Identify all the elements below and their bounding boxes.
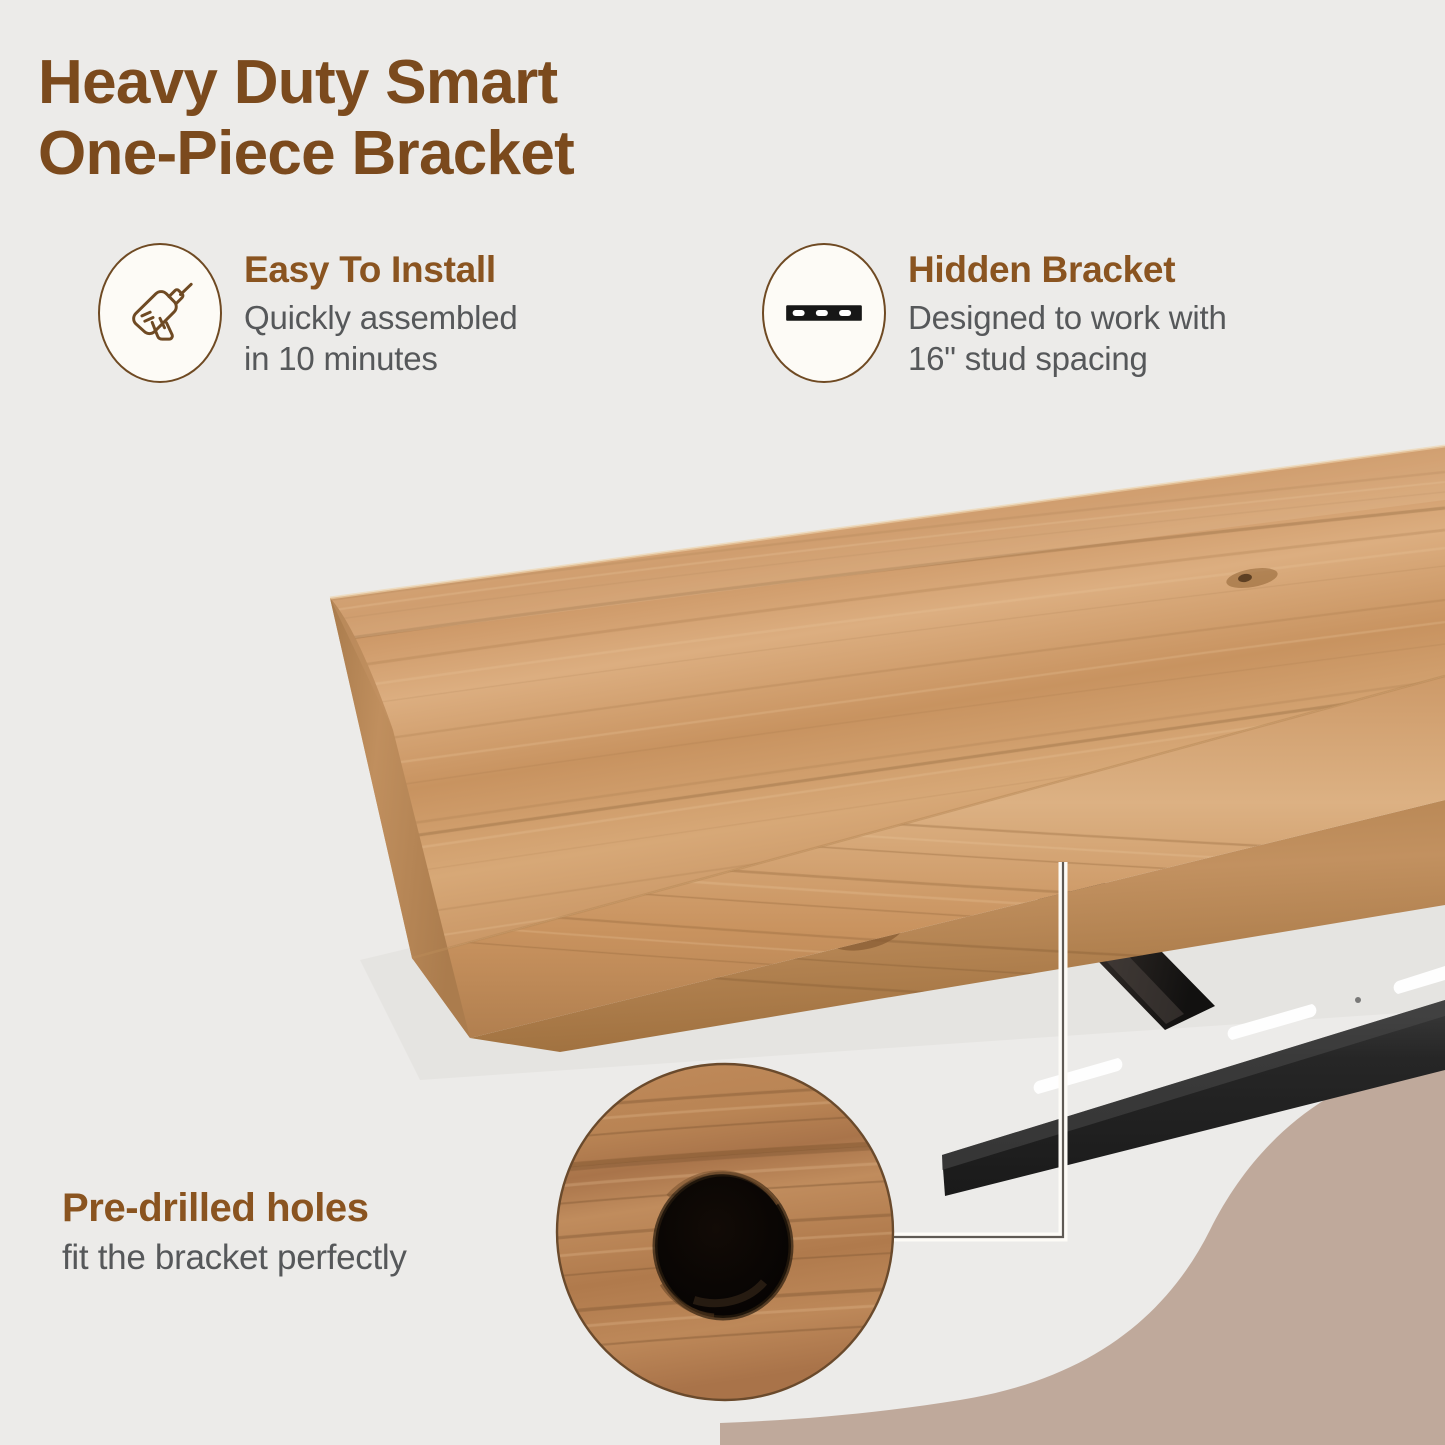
callout-desc: fit the bracket perfectly [62,1239,582,1278]
callout-title: Pre-drilled holes [62,1186,582,1230]
predrilled-callout-text: Pre-drilled holes fit the bracket perfec… [62,1186,582,1278]
product-marketing-image: Heavy Duty Smart One-Piece Bracket [0,0,1445,1445]
